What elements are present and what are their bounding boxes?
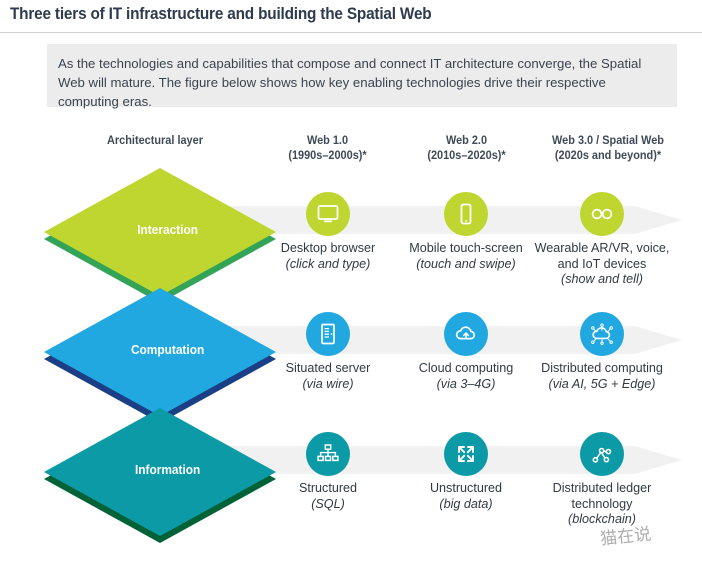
column-header-web1-line1: Web 1.0 [307, 135, 348, 147]
cell-computation-web2: Cloud computing (via 3–4G) [391, 312, 541, 392]
column-header-web3-line1: Web 3.0 / Spatial Web [552, 135, 664, 147]
cell-information-web1: Structured (SQL) [253, 432, 403, 512]
title-divider [0, 32, 702, 33]
cell-label: Distributed ledger technology (blockchai… [527, 481, 677, 528]
cell-information-web3: Distributed ledger technology (blockchai… [527, 432, 677, 528]
tier-row-interaction: Interaction Desktop browser (click and t… [0, 160, 702, 300]
cell-label: Distributed computing (via AI, 5G + Edge… [527, 361, 677, 392]
cell-interaction-web3: Wearable AR/VR, voice, and IoT devices (… [527, 192, 677, 288]
cell-title: Situated server [286, 361, 371, 375]
cell-label: Cloud computing (via 3–4G) [391, 361, 541, 392]
cell-label: Structured (SQL) [253, 481, 403, 512]
cell-subtitle: (via 3–4G) [391, 377, 541, 393]
smartphone-icon [444, 192, 488, 236]
cell-title: Distributed computing [541, 361, 663, 375]
diamond-top-shape [40, 400, 280, 540]
watermark: 猫在说 [599, 519, 652, 549]
cell-title: Structured [299, 481, 357, 495]
diamond-top-shape [40, 280, 280, 420]
distributed-cloud-icon [580, 312, 624, 356]
expand-arrows-icon [444, 432, 488, 476]
cell-subtitle: (via wire) [253, 377, 403, 393]
hierarchy-tree-icon [306, 432, 350, 476]
tier-row-computation: Computation Situated server (via wire) C… [0, 280, 702, 420]
cell-label: Desktop browser (click and type) [253, 241, 403, 272]
tier-diagram: Interaction Desktop browser (click and t… [0, 160, 702, 571]
cell-title: Mobile touch-screen [409, 241, 522, 255]
cell-subtitle: (SQL) [253, 497, 403, 513]
cell-title: Unstructured [430, 481, 502, 495]
column-header-web2-line1: Web 2.0 [446, 135, 487, 147]
cell-title: Cloud computing [419, 361, 514, 375]
cell-label: Unstructured (big data) [391, 481, 541, 512]
cell-title: Desktop browser [281, 241, 376, 255]
network-graph-icon [580, 432, 624, 476]
cell-label: Mobile touch-screen (touch and swipe) [391, 241, 541, 272]
cell-information-web2: Unstructured (big data) [391, 432, 541, 512]
layer-diamond-information[interactable]: Information [40, 400, 280, 540]
cell-subtitle: (via AI, 5G + Edge) [527, 377, 677, 393]
intro-text: As the technologies and capabilities tha… [58, 54, 670, 111]
cell-computation-web3: Distributed computing (via AI, 5G + Edge… [527, 312, 677, 392]
cell-interaction-web1: Desktop browser (click and type) [253, 192, 403, 272]
cell-subtitle: (click and type) [253, 257, 403, 273]
diamond-top-shape [40, 160, 280, 300]
ar-glasses-icon [580, 192, 624, 236]
cell-title: Distributed ledger technology [553, 481, 652, 511]
cell-computation-web1: Situated server (via wire) [253, 312, 403, 392]
monitor-icon [306, 192, 350, 236]
cell-subtitle: (big data) [391, 497, 541, 513]
layer-diamond-computation[interactable]: Computation [40, 280, 280, 420]
cell-interaction-web2: Mobile touch-screen (touch and swipe) [391, 192, 541, 272]
column-header-layer: Architectural layer [65, 134, 246, 149]
cell-title: Wearable AR/VR, voice, and IoT devices [535, 241, 670, 271]
tier-row-information: Information Structured (SQL) [0, 400, 702, 540]
server-rack-icon [306, 312, 350, 356]
cell-label: Situated server (via wire) [253, 361, 403, 392]
cloud-upload-icon [444, 312, 488, 356]
page-title: Three tiers of IT infrastructure and bui… [10, 5, 431, 24]
cell-subtitle: (touch and swipe) [391, 257, 541, 273]
layer-diamond-interaction[interactable]: Interaction [40, 160, 280, 300]
